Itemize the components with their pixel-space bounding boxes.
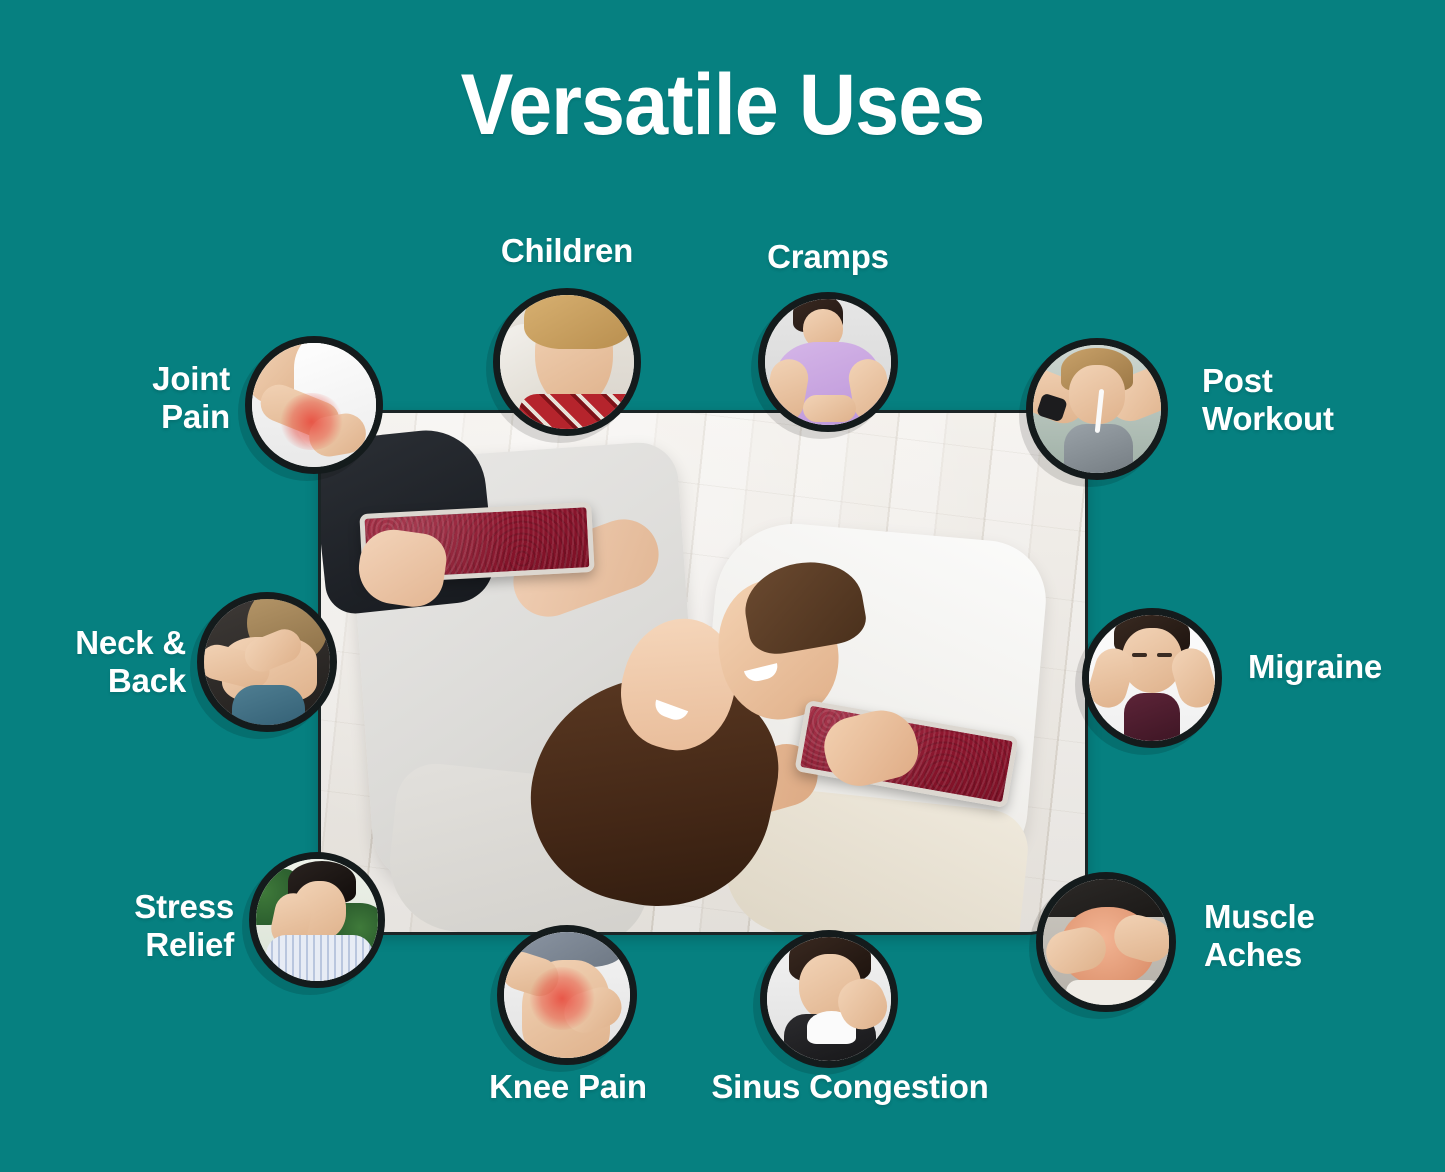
knee-pain-icon: [504, 932, 630, 1058]
badge-sinus-congestion[interactable]: [760, 930, 898, 1068]
versatile-uses-infographic: Versatile Uses: [0, 0, 1445, 1172]
center-product-photo: [318, 410, 1088, 935]
badge-stress-relief[interactable]: [249, 852, 385, 988]
children-icon: [500, 295, 634, 429]
sinus-congestion-icon: [767, 937, 891, 1061]
badge-neck-and-back[interactable]: [197, 592, 337, 732]
stress-relief-icon: [256, 859, 378, 981]
badge-label-sinus-congestion: Sinus Congestion: [690, 1068, 1010, 1106]
cramps-icon: [765, 299, 891, 425]
migraine-icon: [1089, 615, 1215, 741]
joint-pain-icon: [252, 343, 376, 467]
badge-label-children: Children: [447, 232, 687, 270]
badge-label-post-workout: Post Workout: [1202, 362, 1432, 439]
badge-label-migraine: Migraine: [1248, 648, 1438, 686]
badge-label-joint-pain: Joint Pain: [62, 360, 230, 437]
badge-label-muscle-aches: Muscle Aches: [1204, 898, 1424, 975]
badge-label-cramps: Cramps: [708, 238, 948, 276]
badge-migraine[interactable]: [1082, 608, 1222, 748]
badge-knee-pain[interactable]: [497, 925, 637, 1065]
badge-cramps[interactable]: [758, 292, 898, 432]
post-workout-icon: [1033, 345, 1161, 473]
muscle-aches-icon: [1043, 879, 1169, 1005]
badge-muscle-aches[interactable]: [1036, 872, 1176, 1012]
neck-and-back-icon: [204, 599, 330, 725]
badge-label-neck-and-back: Neck & Back: [16, 624, 186, 701]
badge-label-knee-pain: Knee Pain: [452, 1068, 684, 1106]
badge-joint-pain[interactable]: [245, 336, 383, 474]
badge-children[interactable]: [493, 288, 641, 436]
badge-post-workout[interactable]: [1026, 338, 1168, 480]
badge-label-stress-relief: Stress Relief: [62, 888, 234, 965]
page-title: Versatile Uses: [58, 62, 1387, 148]
